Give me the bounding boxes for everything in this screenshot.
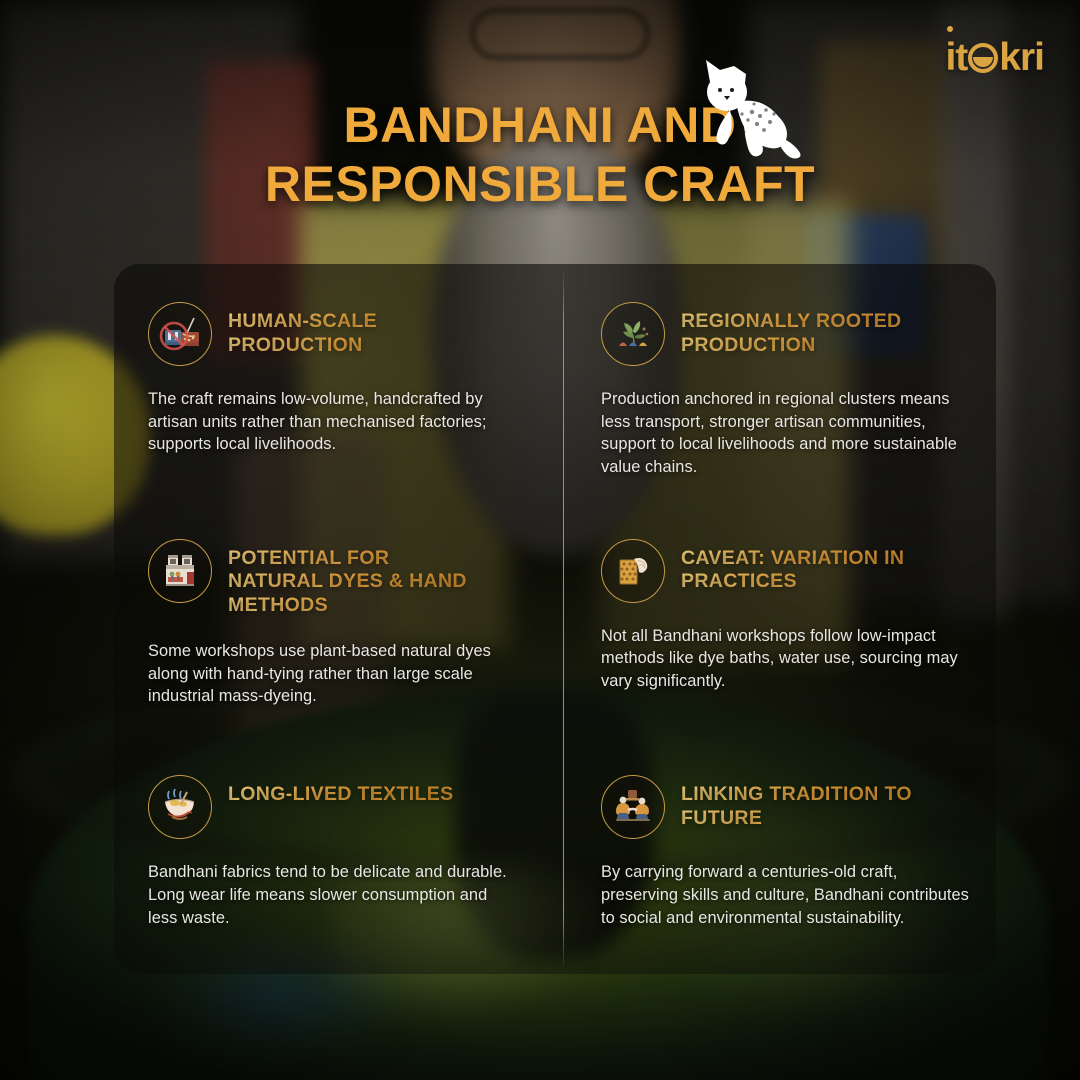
card-long-lived-textiles: LONG-LIVED TEXTILES Bandhani fabrics ten… — [114, 737, 555, 974]
content-panel: HUMAN-SCALE PRODUCTION The craft remains… — [114, 264, 996, 974]
card-title: LINKING TRADITION TO FUTURE — [681, 783, 931, 831]
card-linking-tradition-to-future: LINKING TRADITION TO FUTURE By carrying … — [555, 737, 996, 974]
steaming-dye-pot-icon — [148, 775, 212, 839]
logo-letters-kri: kri — [999, 38, 1044, 77]
card-body: The craft remains low-volume, handcrafte… — [148, 388, 521, 456]
title-line-1: BANDHANI AND — [0, 96, 1080, 155]
card-title: CAVEAT: VARIATION IN PRACTICES — [681, 547, 931, 595]
seedling-dye-powder-icon — [601, 302, 665, 366]
brand-logo-itokri[interactable]: itkri — [945, 38, 1044, 77]
card-title: HUMAN-SCALE PRODUCTION — [228, 310, 478, 358]
workshop-building-icon — [148, 539, 212, 603]
card-natural-dyes-hand-methods: POTENTIAL FOR NATURAL DYES & HAND METHOD… — [114, 501, 555, 738]
two-artisans-icon — [601, 775, 665, 839]
title-line-2: RESPONSIBLE CRAFT — [0, 155, 1080, 214]
card-body: Production anchored in regional clusters… — [601, 388, 974, 479]
card-body: Bandhani fabrics tend to be delicate and… — [148, 861, 521, 929]
card-body: Not all Bandhani workshops follow low-im… — [601, 625, 974, 693]
card-title: LONG-LIVED TEXTILES — [228, 783, 454, 807]
card-title: REGIONALLY ROOTED PRODUCTION — [681, 310, 931, 358]
cards-grid: HUMAN-SCALE PRODUCTION The craft remains… — [114, 264, 996, 974]
card-body: By carrying forward a centuries-old craf… — [601, 861, 974, 929]
logo-letter-t: t — [955, 38, 967, 77]
card-human-scale-production: HUMAN-SCALE PRODUCTION The craft remains… — [114, 264, 555, 501]
infographic-canvas: itkri BANDHANI AND RESPONSIBLE CRAFT — [0, 0, 1080, 1080]
card-regionally-rooted-production: REGIONALLY ROOTED PRODUCTION Production … — [555, 264, 996, 501]
logo-basket-o-icon — [968, 43, 998, 73]
card-body: Some workshops use plant-based natural d… — [148, 640, 521, 708]
card-title: POTENTIAL FOR NATURAL DYES & HAND METHOD… — [228, 547, 478, 618]
no-factory-icon — [148, 302, 212, 366]
card-caveat-variation-in-practices: CAVEAT: VARIATION IN PRACTICES Not all B… — [555, 501, 996, 738]
page-title: BANDHANI AND RESPONSIBLE CRAFT — [0, 96, 1080, 214]
hand-holding-fabric-icon — [601, 539, 665, 603]
logo-letter-i: i — [945, 38, 955, 77]
